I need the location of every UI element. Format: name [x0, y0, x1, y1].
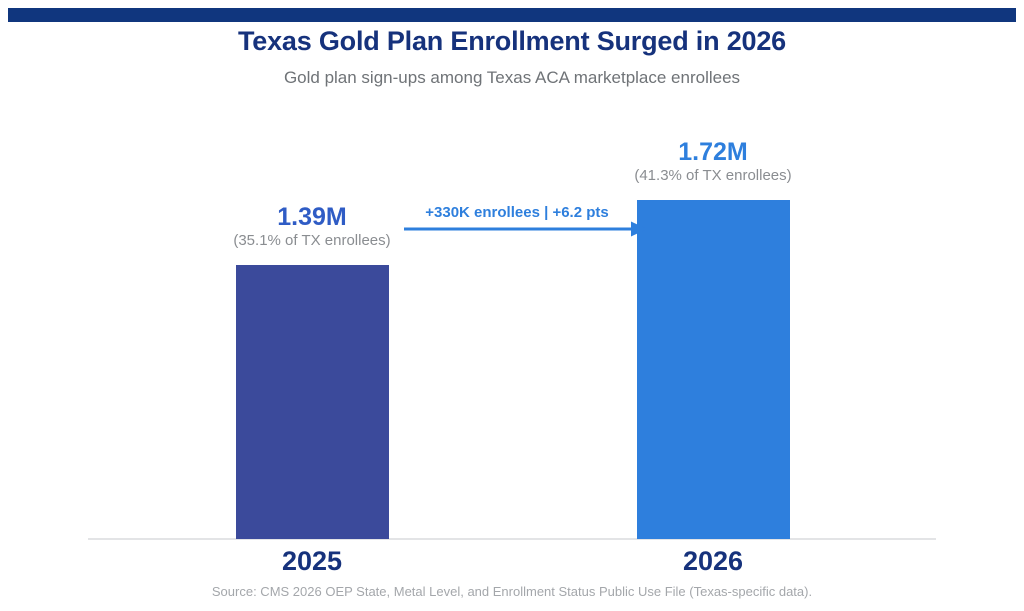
- x-axis-baseline: [88, 538, 936, 540]
- value-label-2026: 1.72M: [583, 138, 843, 166]
- chart-plot-area: 1.39M (35.1% of TX enrollees) 1.72M (41.…: [0, 0, 1024, 611]
- source-note: Source: CMS 2026 OEP State, Metal Level,…: [0, 584, 1024, 599]
- share-label-2026: (41.3% of TX enrollees): [583, 166, 843, 185]
- bar-2025: [236, 265, 389, 539]
- value-label-group-2026: 1.72M (41.3% of TX enrollees): [583, 138, 843, 185]
- infographic-canvas: Texas Gold Plan Enrollment Surged in 202…: [0, 0, 1024, 611]
- right-arrow-icon: [403, 219, 647, 239]
- bar-2026: [637, 200, 790, 539]
- category-label-2025: 2025: [182, 546, 442, 577]
- category-label-2026: 2026: [583, 546, 843, 577]
